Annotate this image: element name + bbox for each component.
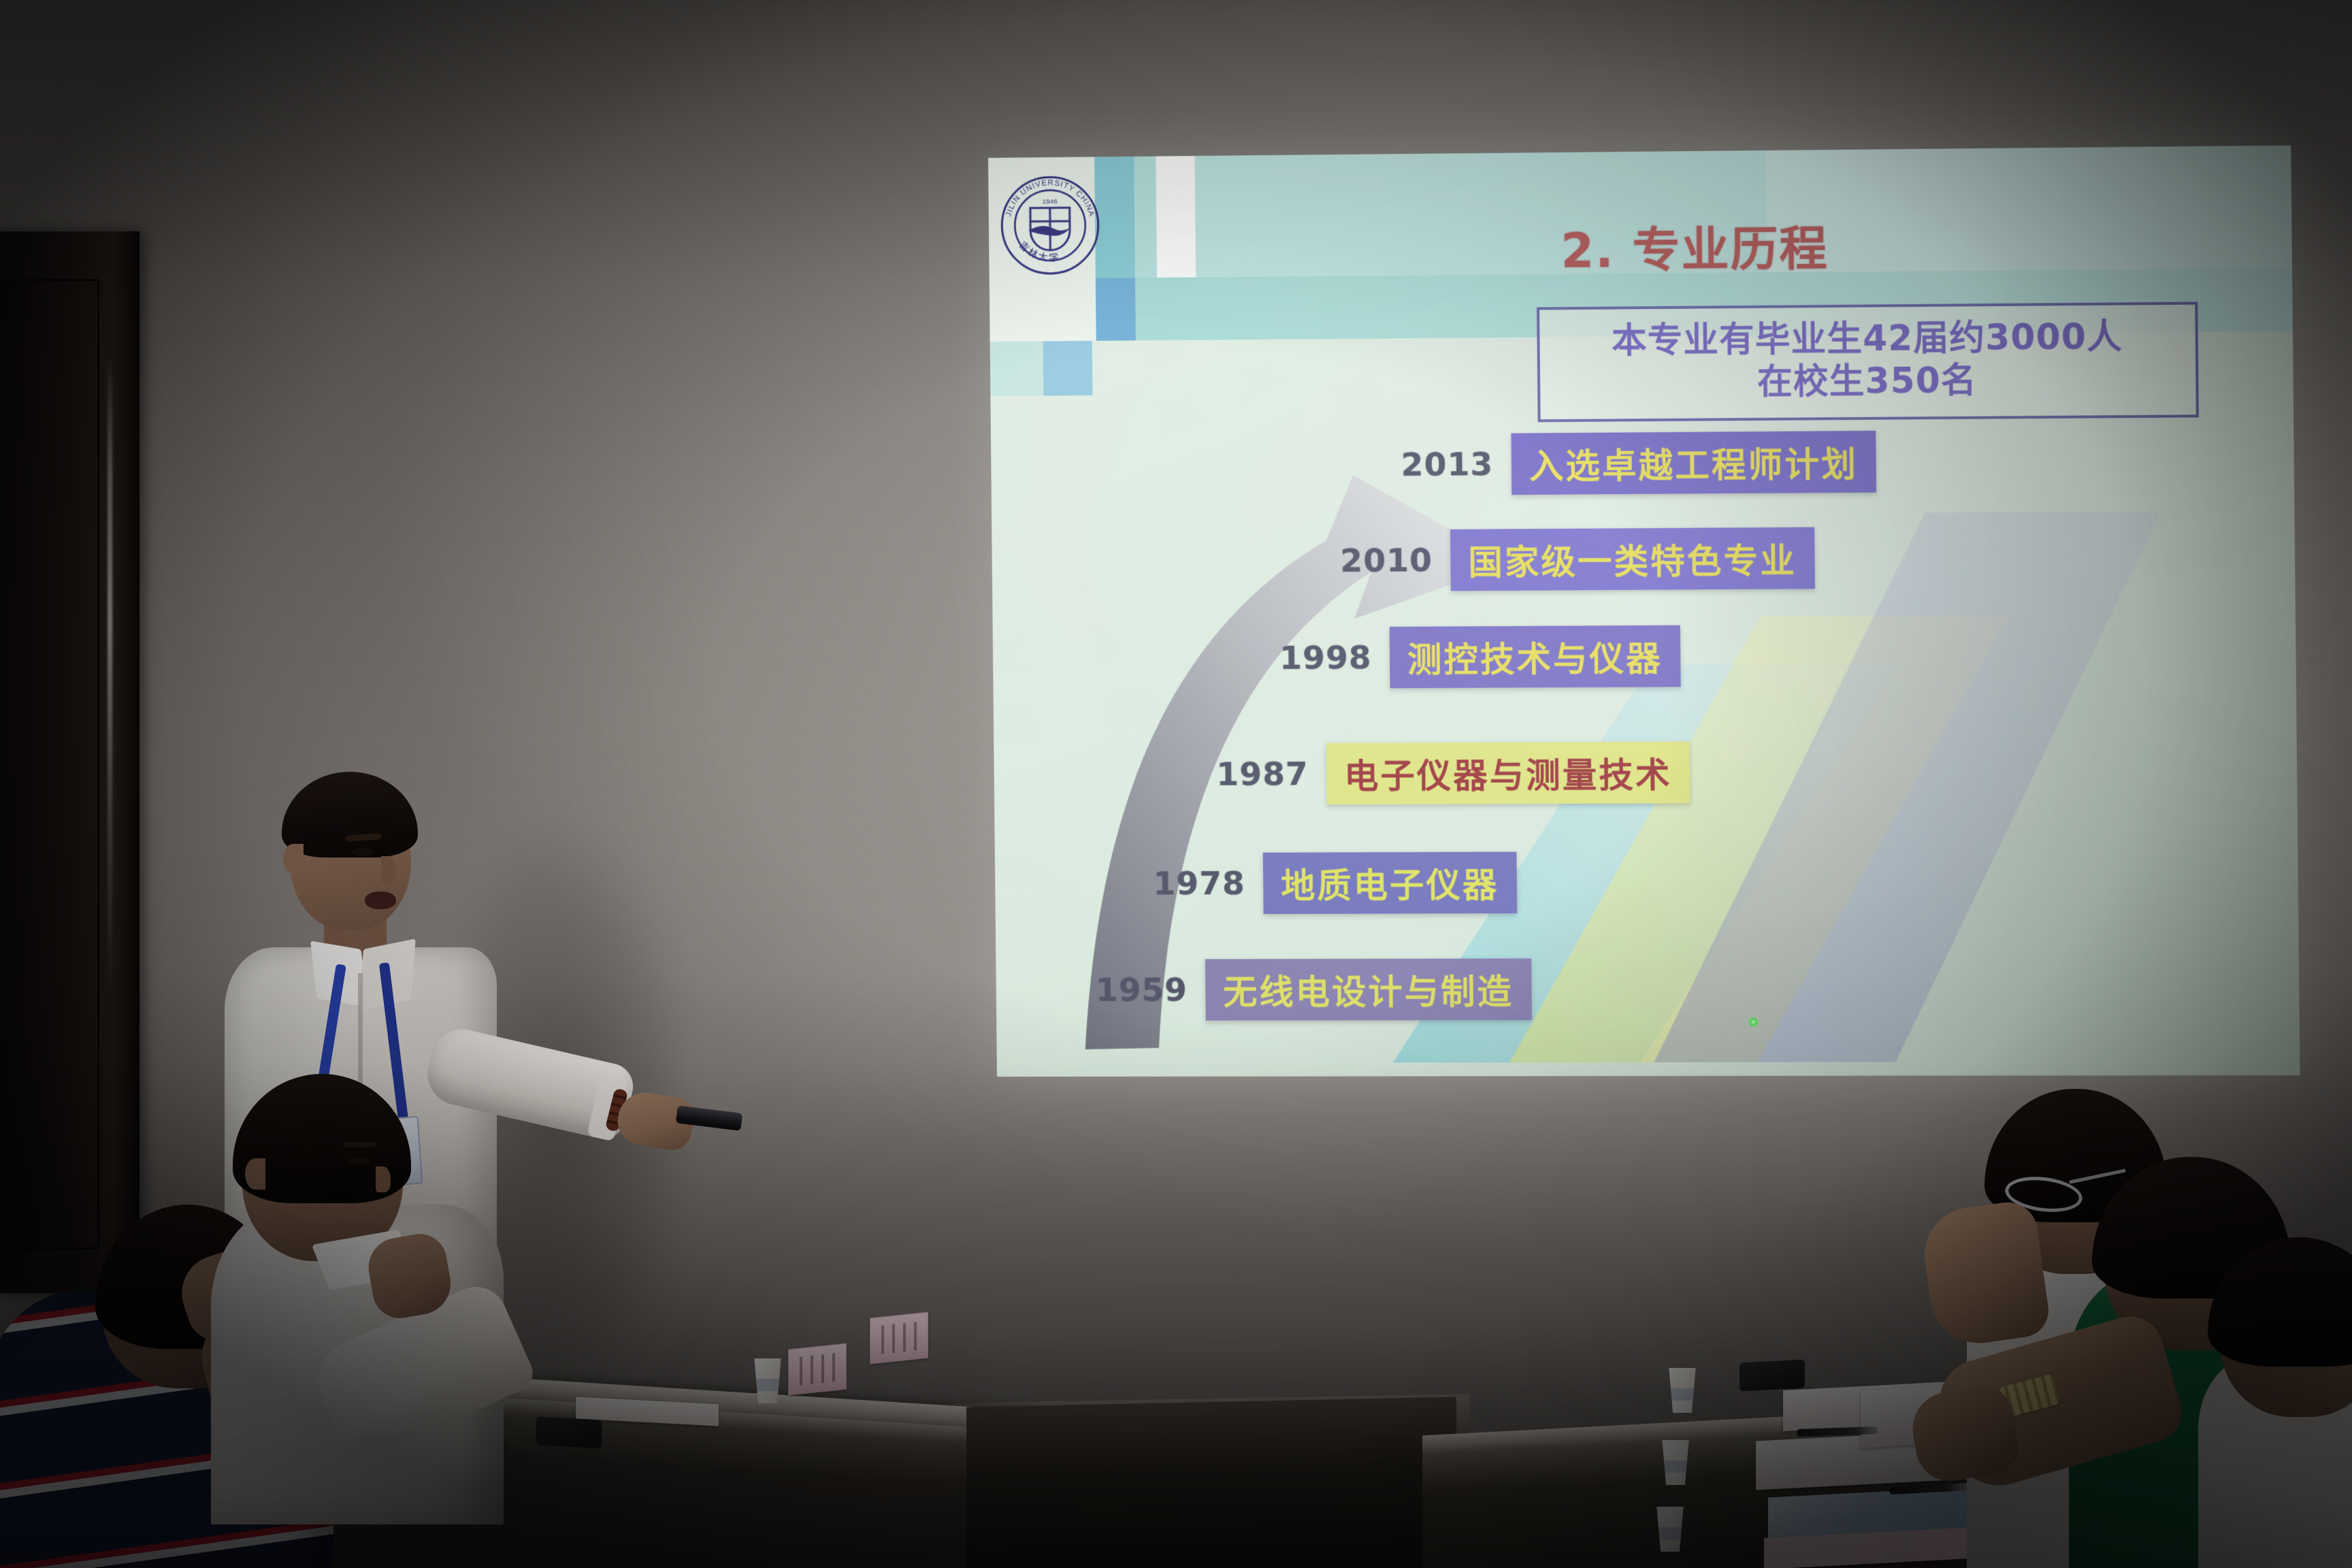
presenter-ear [283,844,304,874]
timeline-year: 1978 [1153,864,1245,902]
slide-deco-square-d [990,341,1044,396]
presenter-nose [381,856,396,883]
water-bottle [1508,1460,1538,1564]
timeline-label: 无线电设计与制造 [1205,958,1532,1020]
callout-line-1: 本专业有毕业生42届约3000人 [1546,316,2188,363]
projection-screen: 1946 JILIN UNIVERSITY CHINA 吉林大学 2. 专业历程 [988,146,2300,1077]
timeline-label: 测控技术与仪器 [1389,625,1680,689]
timeline-row: 1959 无线电设计与制造 [1095,958,1531,1020]
attendee-ear [245,1158,265,1190]
door-edge-highlight [108,354,112,994]
slide-callout-box: 本专业有毕业生42届约3000人 在校生350名 [1537,301,2199,422]
timeline-row: 2013 入选卓越工程师计划 [1401,431,1876,495]
water-bottle [1625,1327,1655,1431]
name-card-text [881,1322,917,1354]
slide-deco-square-b [1096,278,1136,341]
slide: 1946 JILIN UNIVERSITY CHINA 吉林大学 2. 专业历程 [988,146,2300,1077]
attendee-eye [347,1157,369,1164]
callout-line-2: 在校生350名 [1547,359,2189,406]
timeline-year: 1959 [1096,971,1188,1009]
timeline-label: 电子仪器与测量技术 [1326,742,1690,805]
timeline-label: 入选卓越工程师计划 [1511,431,1876,495]
attendee-nose [376,1166,391,1192]
timeline-year: 1987 [1216,755,1309,794]
name-card [788,1343,847,1395]
timeline-row: 2010 国家级一类特色专业 [1340,527,1815,592]
svg-text:吉林大学: 吉林大学 [1017,239,1062,265]
attendee-eyebrow [343,1142,376,1147]
timeline-year: 2013 [1401,445,1493,483]
jilin-university-seal-icon: 1946 JILIN UNIVERSITY CHINA 吉林大学 [998,173,1102,277]
phone [1739,1359,1805,1391]
slide-deco-square-c [1043,341,1093,396]
water-bottle [1586,1367,1616,1470]
svg-text:1946: 1946 [1043,198,1058,206]
phone [536,1416,602,1448]
laser-pointer-dot-icon [1748,1017,1759,1027]
door-frame [0,231,140,1293]
timeline-year: 2010 [1340,542,1433,580]
presenter-eye [351,848,374,856]
slide-title: 2. 专业历程 [1419,209,1971,282]
timeline-label: 地质电子仪器 [1263,852,1518,914]
conference-room-scene: 1946 JILIN UNIVERSITY CHINA 吉林大学 2. 专业历程 [0,0,2352,1568]
timeline-row: 1998 测控技术与仪器 [1279,625,1681,689]
timeline-row: 1987 电子仪器与测量技术 [1216,742,1690,805]
water-bottle [1475,1505,1505,1568]
timeline-row: 1978 地质电子仪器 [1153,852,1517,915]
door-panel [0,279,99,1249]
water-bottle [716,1341,746,1444]
water-bottle [1550,1410,1580,1514]
timeline-year: 1998 [1279,639,1372,677]
name-card [870,1311,928,1364]
timeline-label: 国家级一类特色专业 [1450,527,1815,591]
conference-table-center [966,1396,1456,1568]
name-card-text [800,1353,835,1385]
presenter-mouth [365,892,396,909]
